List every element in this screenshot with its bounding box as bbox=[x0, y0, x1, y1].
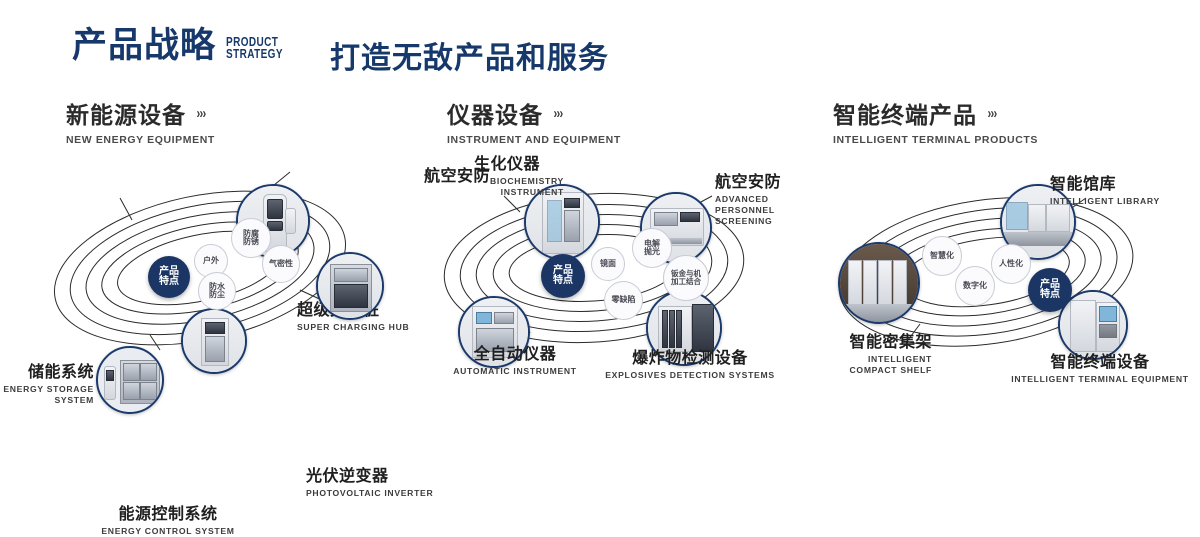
section-title-cn: 智能终端产品 ››› bbox=[833, 96, 1038, 130]
label-cn: 智能密集架 bbox=[818, 334, 932, 352]
label-en: EXPLOSIVES DETECTION SYSTEMS bbox=[600, 370, 780, 381]
feature-bubble-3: 气密性 bbox=[262, 245, 300, 283]
feature-core-intelligent-terminal: 产品特点 bbox=[1028, 268, 1072, 312]
chevron-right-icon: ››› bbox=[988, 105, 997, 122]
section-title-cn: 仪器设备 ››› bbox=[447, 96, 621, 130]
compact-shelf-icon bbox=[840, 244, 918, 322]
energy-storage-cabinet-icon bbox=[98, 348, 162, 412]
section-header-intelligent-terminal: 智能终端产品 ››› INTELLIGENT TERMINAL PRODUCTS bbox=[833, 96, 1038, 146]
feature-label: 防腐防锈 bbox=[242, 230, 260, 247]
feature-label: 气密性 bbox=[268, 260, 294, 268]
chevron-right-icon: ››› bbox=[197, 105, 206, 122]
label-en: INTELLIGENT TERMINAL EQUIPMENT bbox=[1000, 374, 1200, 385]
label-automatic-instrument: 全自动仪器 AUTOMATIC INSTRUMENT bbox=[435, 346, 595, 377]
page-title-cn: 产品战略 bbox=[72, 28, 216, 63]
label-cn: 能源控制系统 bbox=[88, 506, 248, 524]
label-intelligent-compact-shelf: 智能密集架 INTELLIGENT COMPACT SHELF bbox=[818, 334, 932, 376]
inverter-cabinet-icon bbox=[318, 254, 382, 318]
label-en: SUPER CHARGING HUB bbox=[297, 322, 409, 333]
feature-bubble-1: 电解抛光 bbox=[632, 228, 672, 268]
label-photovoltaic-inverter: 光伏逆变器 PHOTOVOLTAIC INVERTER bbox=[306, 468, 433, 499]
label-advanced-personnel-screening: 航空安防 ADVANCED PERSONNEL SCREENING bbox=[715, 174, 811, 227]
feature-bubble-2: 人性化 bbox=[991, 244, 1031, 284]
label-explosives-detection: 爆炸物检测设备 EXPLOSIVES DETECTION SYSTEMS bbox=[600, 350, 780, 381]
feature-label: 产品特点 bbox=[550, 266, 576, 287]
section-header-new-energy: 新能源设备 ››› NEW ENERGY EQUIPMENT bbox=[66, 96, 215, 146]
node-intelligent-compact-shelf[interactable] bbox=[838, 242, 920, 324]
label-energy-storage: 储能系统 ENERGY STORAGE SYSTEM bbox=[0, 364, 94, 406]
label-cn: 全自动仪器 bbox=[435, 346, 595, 364]
page-title-en: PRODUCT STRATEGY bbox=[226, 36, 283, 62]
feature-label: 人性化 bbox=[999, 260, 1023, 268]
feature-core-instrument: 产品特点 bbox=[541, 254, 585, 298]
page-slogan: 打造无敌产品和服务 bbox=[330, 33, 609, 77]
feature-bubble-2: 钣金与机加工结合 bbox=[663, 255, 709, 301]
feature-label: 智慧化 bbox=[930, 252, 954, 260]
feature-label: 户外 bbox=[203, 257, 219, 265]
label-en: ENERGY STORAGE SYSTEM bbox=[0, 384, 94, 405]
terminal-kiosk-icon bbox=[1060, 292, 1126, 358]
feature-bubble-0: 智慧化 bbox=[922, 236, 962, 276]
feature-label: 产品特点 bbox=[1037, 280, 1063, 301]
label-en: AUTOMATIC INSTRUMENT bbox=[435, 366, 595, 377]
label-biochemistry-instrument: 生化仪器 BIOCHEMISTRY INSTRUMENT bbox=[474, 156, 564, 198]
label-en: PHOTOVOLTAIC INVERTER bbox=[306, 488, 433, 499]
label-cn: 储能系统 bbox=[0, 364, 94, 382]
section-title-en: INSTRUMENT AND EQUIPMENT bbox=[447, 134, 621, 146]
feature-bubble-2: 防水防尘 bbox=[198, 272, 236, 310]
label-en: INTELLIGENT LIBRARY bbox=[1050, 196, 1160, 207]
feature-bubble-1: 数字化 bbox=[955, 266, 995, 306]
feature-label: 钣金与机加工结合 bbox=[671, 270, 701, 286]
feature-bubble-3: 零缺陷 bbox=[604, 281, 643, 320]
section-title-text: 新能源设备 bbox=[66, 96, 186, 130]
label-cn: 爆炸物检测设备 bbox=[600, 350, 780, 368]
section-title-cn: 新能源设备 ››› bbox=[66, 96, 215, 130]
node-energy-control-system[interactable] bbox=[181, 308, 247, 374]
cluster-intelligent-terminal: 智能馆库 INTELLIGENT LIBRARY 智能密集架 INTELLIGE… bbox=[800, 150, 1200, 410]
feature-label: 电解抛光 bbox=[643, 240, 661, 257]
label-en: BIOCHEMISTRY INSTRUMENT bbox=[474, 176, 564, 197]
label-cn: 光伏逆变器 bbox=[306, 468, 433, 486]
section-title-text: 仪器设备 bbox=[447, 96, 543, 130]
label-cn: 生化仪器 bbox=[474, 156, 564, 174]
section-title-en: NEW ENERGY EQUIPMENT bbox=[66, 134, 215, 146]
feature-label: 数字化 bbox=[963, 282, 987, 290]
label-en: INTELLIGENT COMPACT SHELF bbox=[818, 354, 932, 375]
page-title-en-line1: PRODUCT bbox=[226, 36, 283, 49]
label-cn: 智能终端设备 bbox=[1000, 354, 1200, 372]
chevron-right-icon: ››› bbox=[554, 105, 563, 122]
node-photovoltaic-inverter[interactable] bbox=[316, 252, 384, 320]
feature-label: 产品特点 bbox=[156, 267, 182, 288]
section-header-instrument: 仪器设备 ››› INSTRUMENT AND EQUIPMENT bbox=[447, 96, 621, 146]
label-cn: 航空安防 bbox=[715, 174, 811, 192]
label-cn: 智能馆库 bbox=[1050, 176, 1160, 194]
control-cabinet-icon bbox=[183, 310, 245, 372]
feature-label: 镜面 bbox=[600, 260, 616, 268]
node-energy-storage[interactable] bbox=[96, 346, 164, 414]
label-en: ENERGY CONTROL SYSTEM bbox=[88, 526, 248, 537]
page-title: 产品战略 PRODUCT STRATEGY bbox=[72, 28, 297, 63]
label-intelligent-terminal-equipment: 智能终端设备 INTELLIGENT TERMINAL EQUIPMENT bbox=[1000, 354, 1200, 385]
feature-label: 零缺陷 bbox=[611, 296, 637, 304]
section-title-en: INTELLIGENT TERMINAL PRODUCTS bbox=[833, 134, 1038, 146]
label-intelligent-library: 智能馆库 INTELLIGENT LIBRARY bbox=[1050, 176, 1160, 207]
label-en: ADVANCED PERSONNEL SCREENING bbox=[715, 194, 811, 226]
feature-label: 防水防尘 bbox=[208, 283, 226, 300]
cluster-new-energy: 储能系统 ENERGY STORAGE SYSTEM 超级充电桩 SUPER C… bbox=[0, 150, 400, 410]
feature-bubble-0: 镜面 bbox=[591, 247, 625, 281]
product-strategy-infographic: 产品战略 PRODUCT STRATEGY 打造无敌产品和服务 新能源设备 ››… bbox=[0, 0, 1200, 422]
section-title-text: 智能终端产品 bbox=[833, 96, 977, 130]
label-energy-control-system: 能源控制系统 ENERGY CONTROL SYSTEM bbox=[88, 506, 248, 537]
cluster-instrument: 航空安防 生化仪器 BIOCHEMISTRY INSTRUMENT 航空安防 A… bbox=[400, 150, 800, 410]
feature-core-new-energy: 产品特点 bbox=[148, 256, 190, 298]
page-title-en-line2: STRATEGY bbox=[226, 48, 283, 61]
